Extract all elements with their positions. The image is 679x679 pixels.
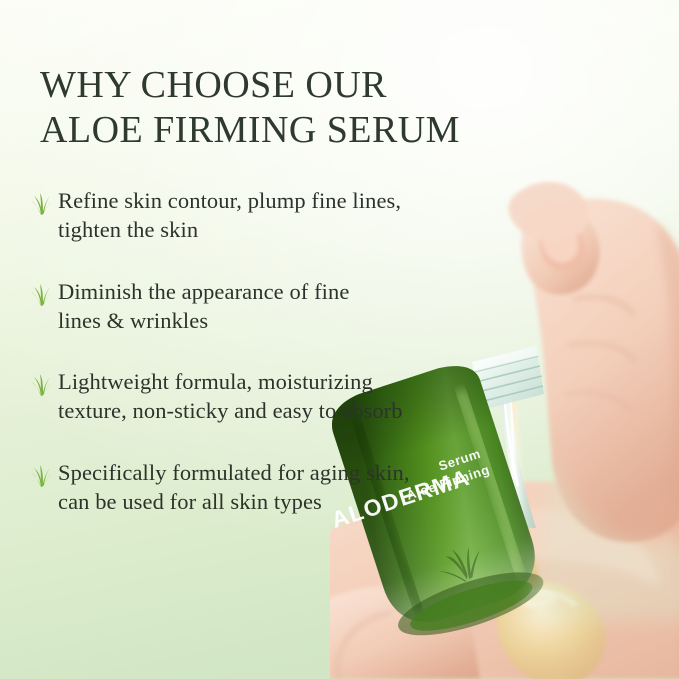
list-item-text: Refine skin contour, plump fine lines, t…	[58, 186, 401, 245]
list-item: Specifically formulated for aging skin, …	[30, 458, 500, 517]
list-item: Diminish the appearance of fine lines & …	[30, 277, 500, 336]
glass-dropper	[500, 388, 536, 528]
list-item: Refine skin contour, plump fine lines, t…	[30, 186, 500, 245]
promo-poster: ALODERMA Aloe Firming Serum	[0, 0, 679, 679]
serum-stream	[506, 396, 544, 594]
benefit-list: Refine skin contour, plump fine lines, t…	[30, 186, 500, 516]
holding-hand	[509, 182, 679, 620]
serum-pool	[496, 581, 605, 679]
list-item-text: Diminish the appearance of fine lines & …	[58, 277, 349, 336]
list-item-text: Specifically formulated for aging skin, …	[58, 458, 410, 517]
aloe-plant-icon	[30, 463, 52, 487]
aloe-plant-icon	[30, 372, 52, 396]
aloe-plant-icon	[30, 191, 52, 215]
page-title: WHY CHOOSE OUR ALOE FIRMING SERUM	[40, 63, 600, 152]
list-item: Lightweight formula, moisturizing textur…	[30, 367, 500, 426]
list-item-text: Lightweight formula, moisturizing textur…	[58, 367, 403, 426]
aloe-leaf-icon	[434, 542, 487, 588]
aloe-plant-icon	[30, 282, 52, 306]
